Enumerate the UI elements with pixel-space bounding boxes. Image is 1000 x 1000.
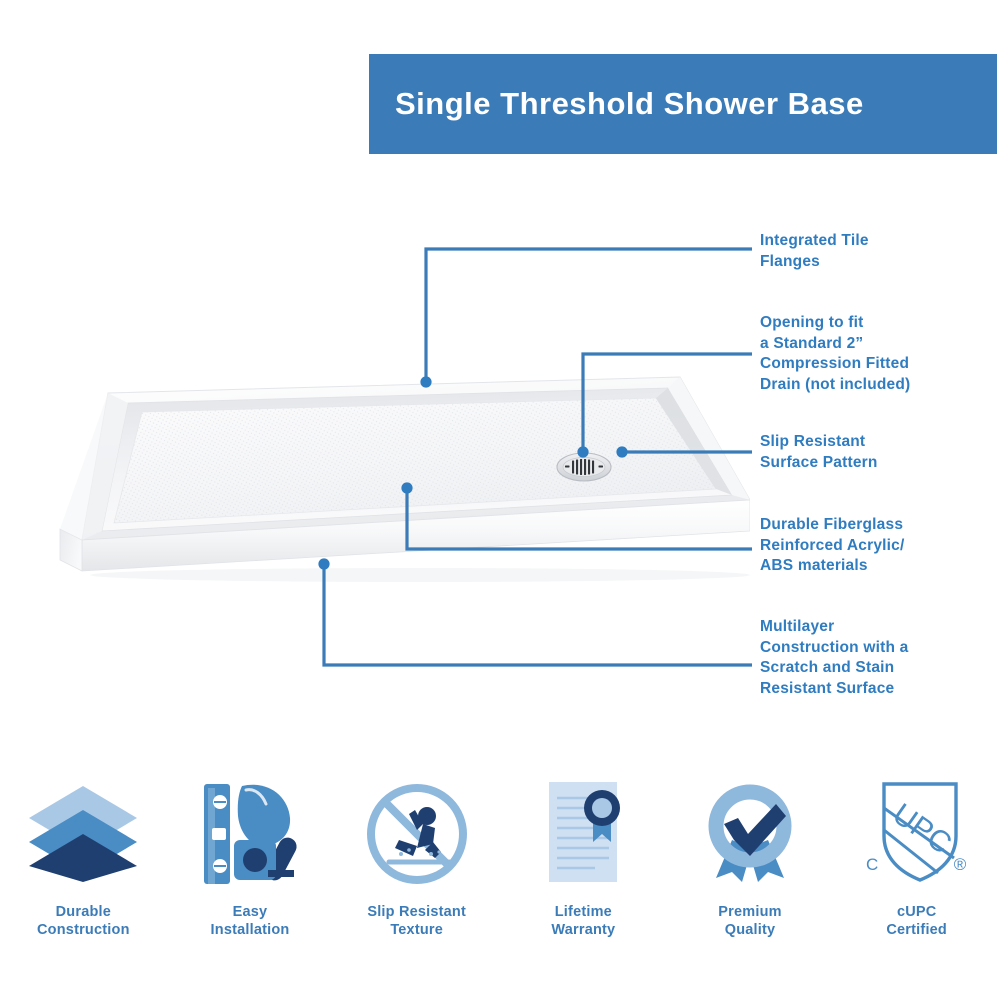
callout-durable-fiberglass: Durable Fiberglass Reinforced Acrylic/ A… [760,515,1000,577]
page-title: Single Threshold Shower Base [369,86,864,122]
feature-cupc-certified: UPC C ® cUPC Certified [833,775,1000,965]
base-shadow [90,568,750,582]
certificate-icon [518,775,648,893]
feature-label: cUPC Certified [886,903,947,939]
callout-multilayer-construction: Multilayer Construction with a Scratch a… [760,617,1000,699]
feature-premium-quality: Premium Quality [667,775,834,965]
layers-icon [18,775,148,893]
no-slip-icon [352,775,482,893]
upc-registered-mark: ® [953,855,966,874]
header-band: Single Threshold Shower Base [369,54,997,154]
drain-grate [557,453,611,481]
product-image-shower-base [20,355,750,585]
callout-slip-resistant-surface: Slip Resistant Surface Pattern [760,432,995,473]
feature-label: Lifetime Warranty [551,903,615,939]
feature-label: Premium Quality [718,903,781,939]
feature-durable-construction: Durable Construction [0,775,167,965]
upc-c-mark: C [866,855,878,874]
feature-label: Durable Construction [37,903,130,939]
feature-badges-row: Durable Construction [0,775,1000,965]
feature-slip-resistant: Slip Resistant Texture [333,775,500,965]
feature-label: Easy Installation [211,903,290,939]
upc-shield-icon: UPC C ® [852,775,982,893]
award-check-icon [685,775,815,893]
feature-lifetime-warranty: Lifetime Warranty [500,775,667,965]
callout-integrated-tile-flanges: Integrated Tile Flanges [760,231,995,272]
feature-label: Slip Resistant Texture [367,903,466,939]
callout-drain-opening: Opening to fit a Standard 2” Compression… [760,313,1000,395]
level-trowel-icon [185,775,315,893]
infographic-canvas: Single Threshold Shower Base [0,0,1000,1000]
feature-easy-installation: Easy Installation [167,775,334,965]
